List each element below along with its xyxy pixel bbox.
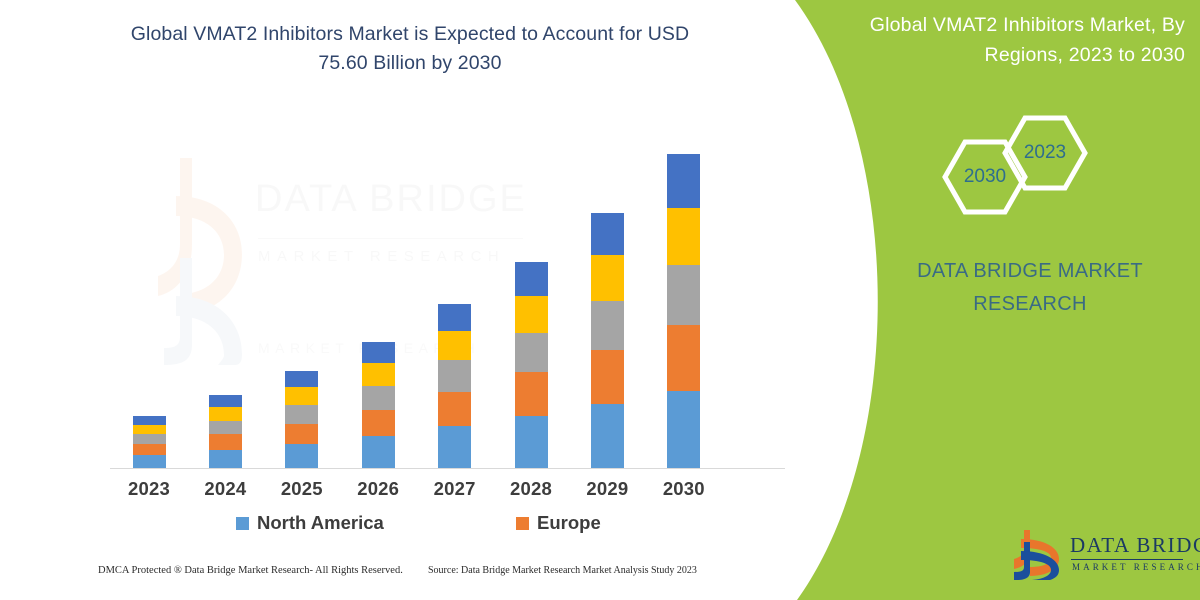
bar-2023 <box>133 416 166 468</box>
panel-brand: DATA BRIDGE MARKET RESEARCH <box>880 255 1180 321</box>
legend-swatch-icon <box>516 517 529 530</box>
bar-segment-2027-europe <box>438 392 471 426</box>
bar-segment-2026-south-america <box>362 363 395 386</box>
bar-segment-2023-middle-east-and-africa <box>133 416 166 425</box>
bar-segment-2030-middle-east-and-africa <box>667 154 700 208</box>
hex-label-2023: 2023 <box>995 142 1095 164</box>
bar-segment-2026-north-america <box>362 436 395 468</box>
bar-2026 <box>362 342 395 468</box>
bar-segment-2025-asia-pacific <box>285 405 318 424</box>
bar-segment-2026-middle-east-and-africa <box>362 342 395 363</box>
x-axis-label-2027: 2027 <box>415 478 495 500</box>
legend-item-north-america[interactable]: North America <box>236 512 384 534</box>
bar-2024 <box>209 395 242 468</box>
bar-segment-2027-asia-pacific <box>438 360 471 392</box>
dmca-notice: DMCA Protected ® Data Bridge Market Rese… <box>98 565 403 576</box>
bar-2028 <box>515 262 548 468</box>
logo-divider <box>1071 559 1183 560</box>
bar-segment-2025-north-america <box>285 444 318 468</box>
panel-brand-line-2: RESEARCH <box>880 288 1180 321</box>
bar-segment-2024-south-america <box>209 407 242 420</box>
bar-segment-2030-asia-pacific <box>667 265 700 325</box>
panel-title: Global VMAT2 Inhibitors Market, By Regio… <box>840 10 1185 70</box>
data-bridge-logo: DATA BRIDGE MARKET RESEARCH <box>1012 528 1187 582</box>
logo-text-secondary: MARKET RESEARCH <box>1072 562 1200 572</box>
bar-segment-2028-europe <box>515 372 548 416</box>
legend-label: Europe <box>537 512 601 534</box>
x-axis-tick-labels: 20232024202520262027202820292030 <box>0 478 800 504</box>
x-axis-label-2030: 2030 <box>644 478 724 500</box>
bar-segment-2029-north-america <box>591 404 624 468</box>
bar-segment-2030-north-america <box>667 391 700 468</box>
bar-2030 <box>667 154 700 468</box>
hexagon-outline-icons <box>925 110 1115 220</box>
bar-segment-2023-south-america <box>133 425 166 435</box>
panel-brand-line-1: DATA BRIDGE MARKET <box>880 255 1180 288</box>
x-axis-label-2029: 2029 <box>567 478 647 500</box>
bar-segment-2024-north-america <box>209 450 242 468</box>
bar-segment-2027-south-america <box>438 331 471 360</box>
bar-segment-2024-middle-east-and-africa <box>209 395 242 407</box>
stacked-bar-chart: 20232024202520262027202820292030 <box>0 0 800 600</box>
bar-segment-2028-asia-pacific <box>515 333 548 373</box>
chart-legend: North AmericaEurope <box>0 512 800 542</box>
bar-segment-2026-asia-pacific <box>362 386 395 410</box>
legend-item-europe[interactable]: Europe <box>516 512 601 534</box>
hexagon-badges: 2023 2030 <box>925 110 1115 220</box>
bar-2027 <box>438 304 471 468</box>
bar-segment-2023-north-america <box>133 455 166 468</box>
bar-segment-2027-middle-east-and-africa <box>438 304 471 331</box>
bar-segment-2028-middle-east-and-africa <box>515 262 548 296</box>
x-axis-label-2025: 2025 <box>262 478 342 500</box>
bar-segment-2024-asia-pacific <box>209 421 242 435</box>
bar-segment-2029-europe <box>591 350 624 404</box>
x-axis-label-2026: 2026 <box>338 478 418 500</box>
bar-segment-2030-europe <box>667 325 700 391</box>
bar-segment-2029-south-america <box>591 255 624 301</box>
footer: DMCA Protected ® Data Bridge Market Rese… <box>0 565 800 589</box>
bar-segment-2024-europe <box>209 434 242 450</box>
hex-label-2030: 2030 <box>935 166 1035 188</box>
bar-segment-2029-middle-east-and-africa <box>591 213 624 255</box>
bar-2025 <box>285 371 318 468</box>
x-axis-label-2028: 2028 <box>491 478 571 500</box>
bar-segment-2027-north-america <box>438 426 471 468</box>
logo-text-primary: DATA BRIDGE <box>1070 533 1200 558</box>
x-axis-line <box>110 468 785 469</box>
bar-segment-2028-south-america <box>515 296 548 333</box>
legend-swatch-icon <box>236 517 249 530</box>
x-axis-label-2023: 2023 <box>109 478 189 500</box>
bar-segment-2023-europe <box>133 444 166 455</box>
chart-card: Global VMAT2 Inhibitors Market is Expect… <box>0 0 800 600</box>
bar-segment-2025-south-america <box>285 387 318 404</box>
data-bridge-logo-mark-icon <box>1012 528 1062 580</box>
bar-segment-2030-south-america <box>667 208 700 264</box>
bar-segment-2029-asia-pacific <box>591 301 624 350</box>
infographic-slide: Global VMAT2 Inhibitors Market is Expect… <box>0 0 1200 600</box>
x-axis-label-2024: 2024 <box>185 478 265 500</box>
bar-segment-2023-asia-pacific <box>133 434 166 444</box>
bar-segment-2025-middle-east-and-africa <box>285 371 318 387</box>
source-note: Source: Data Bridge Market Research Mark… <box>428 565 697 576</box>
bar-2029 <box>591 213 624 468</box>
legend-label: North America <box>257 512 384 534</box>
bar-segment-2028-north-america <box>515 416 548 468</box>
bar-segment-2026-europe <box>362 410 395 437</box>
bar-segment-2025-europe <box>285 424 318 445</box>
